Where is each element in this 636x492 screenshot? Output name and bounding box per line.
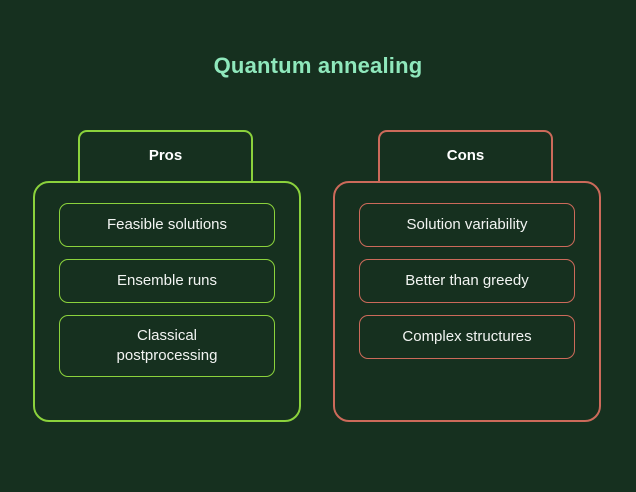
cons-item-label: Solution variability xyxy=(407,215,528,235)
page-title: Quantum annealing xyxy=(0,52,636,80)
pros-item-card[interactable]: Ensemble runs xyxy=(59,259,275,303)
pros-item-card[interactable]: Classical postprocessing xyxy=(59,315,275,377)
cons-body-box: Solution variability Better than greedy … xyxy=(333,181,601,422)
cons-tab-label: Cons xyxy=(380,146,551,166)
pros-cons-comparison: Pros Feasible solutions Ensemble runs Cl… xyxy=(0,130,636,430)
pros-item-label: Classical postprocessing xyxy=(117,326,218,366)
pros-item-label: Feasible solutions xyxy=(107,215,227,235)
cons-column: Cons Solution variability Better than gr… xyxy=(333,130,601,422)
cons-tab-header: Cons xyxy=(378,130,553,188)
pros-item-label: Ensemble runs xyxy=(117,271,217,291)
cons-item-label: Better than greedy xyxy=(405,271,528,291)
pros-body-box: Feasible solutions Ensemble runs Classic… xyxy=(33,181,301,422)
cons-item-label: Complex structures xyxy=(402,327,531,347)
pros-column: Pros Feasible solutions Ensemble runs Cl… xyxy=(33,130,301,422)
pros-tab-label: Pros xyxy=(80,146,251,166)
cons-item-card[interactable]: Solution variability xyxy=(359,203,575,247)
pros-item-card[interactable]: Feasible solutions xyxy=(59,203,275,247)
slide-canvas: Quantum annealing Pros Feasible solution… xyxy=(0,0,636,492)
cons-item-card[interactable]: Better than greedy xyxy=(359,259,575,303)
pros-tab-header: Pros xyxy=(78,130,253,188)
cons-item-card[interactable]: Complex structures xyxy=(359,315,575,359)
